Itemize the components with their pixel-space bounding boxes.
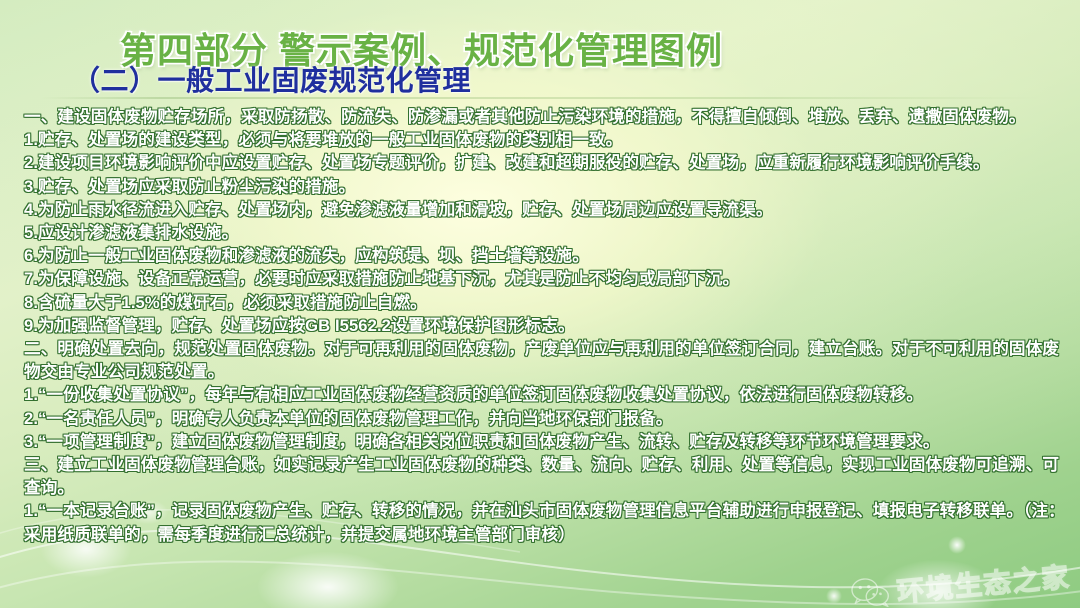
wechat-icon (848, 573, 893, 608)
body-paragraph: 9.为加强监督管理，贮存、处置场应按GB I5562.2设置环境保护图形标志。 (24, 314, 1070, 337)
body-paragraph: 1.“一份收集处置协议”，每年与有相应工业固体废物经营资质的单位签订固体废物收集… (24, 383, 1070, 406)
bokeh-dot-5 (826, 588, 842, 604)
body-paragraph: 一、建设固体废物贮存场所，采取防扬散、防流失、防渗漏或者其他防止污染环境的措施，… (24, 105, 1070, 128)
watermark-label: 环境生态之家 (895, 555, 1072, 608)
body-paragraph: 2.建设项目环境影响评价中应设置贮存、处置场专题评价，扩建、改建和超期服役的贮存… (24, 151, 1070, 174)
watermark: 环境生态之家 (847, 555, 1072, 608)
page-subtitle: （二）一般工业固废规范化管理 (72, 59, 471, 99)
body-paragraph: 2.“一名责任人员”，明确专人负责本单位的固体废物管理工作，并向当地环保部门报备… (24, 407, 1070, 430)
body-paragraph: 6.为防止一般工业固体废物和渗滤液的流失，应构筑堤、坝、挡土墙等设施。 (24, 244, 1070, 267)
bokeh-dot-2 (258, 552, 398, 608)
body-paragraph: 7.为保障设施、设备正常运营，必要时应采取措施防止地基下沉，尤其是防止不均匀或局… (24, 267, 1070, 290)
body-paragraph: 8.含硫量大于1.5%的煤矸石，必须采取措施防止自燃。 (24, 291, 1070, 314)
header-divider (40, 97, 1040, 99)
slide-canvas: 第四部分 警示案例、规范化管理图例 （二）一般工业固废规范化管理 一、建设固体废… (0, 0, 1080, 608)
body-paragraph: 3.贮存、处置场应采取防止粉尘污染的措施。 (24, 175, 1070, 198)
body-paragraph: 1.“一本记录台账”，记录固体废物产生、贮存、转移的情况，并在汕头市固体废物管理… (24, 499, 1070, 545)
body-paragraph: 1.贮存、处置场的建设类型，必须与将要堆放的一般工业固体废物的类别相一致。 (24, 128, 1070, 151)
body-paragraph: 二、明确处置去向，规范处置固体废物。对于可再利用的固体废物，产废单位应与再利用的… (24, 337, 1070, 383)
slide-header: 第四部分 警示案例、规范化管理图例 （二）一般工业固废规范化管理 (0, 0, 1080, 100)
body-paragraph: 3.“一项管理制度”，建立固体废物管理制度，明确各相关岗位职责和固体废物产生、流… (24, 430, 1070, 453)
body-paragraph: 4.为防止雨水径流进入贮存、处置场内，避免渗滤液量增加和滑坡，贮存、处置场周边应… (24, 198, 1070, 221)
body-content: 一、建设固体废物贮存场所，采取防扬散、防流失、防渗漏或者其他防止污染环境的措施，… (24, 105, 1070, 546)
body-paragraph: 三、建立工业固体废物管理台账，如实记录产生工业固体废物的种类、数量、流向、贮存、… (24, 453, 1070, 499)
body-paragraph: 5.应设计渗滤液集排水设施。 (24, 221, 1070, 244)
